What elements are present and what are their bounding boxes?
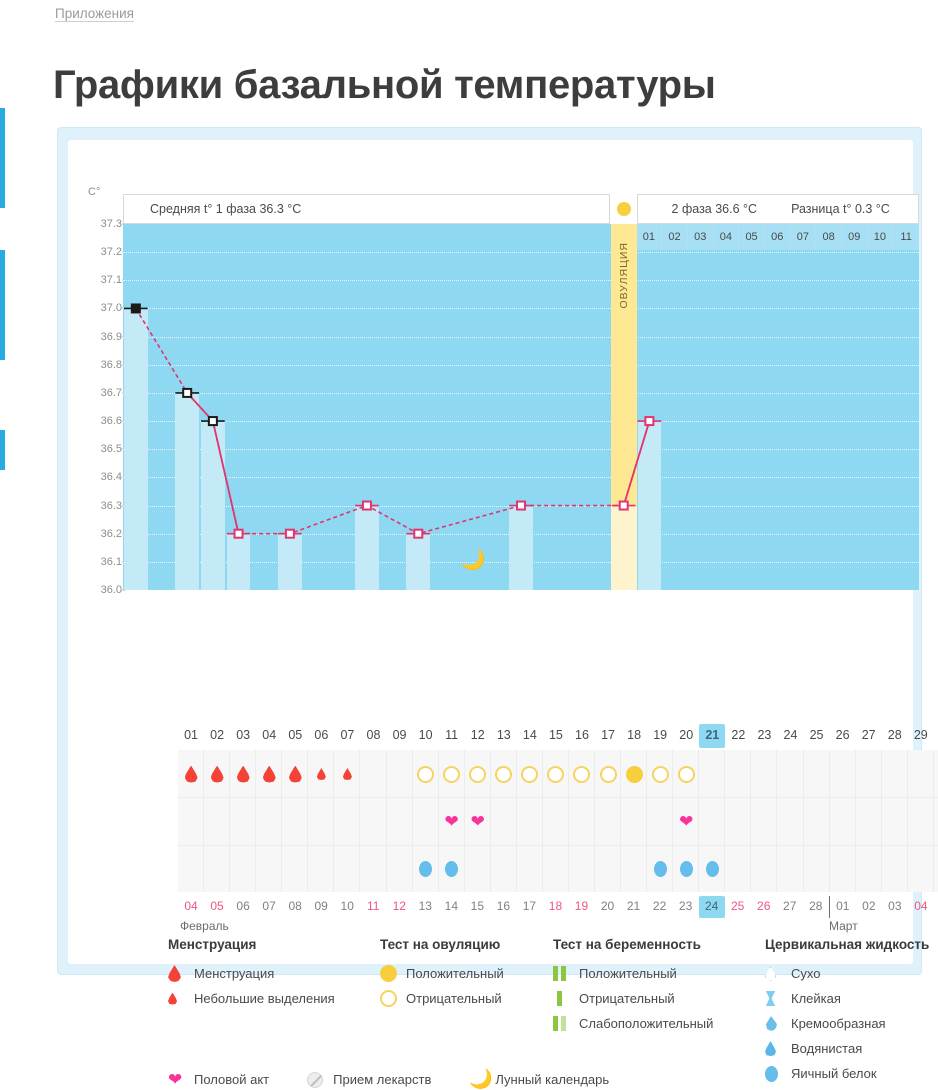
cycle-day-number[interactable]: 15 (543, 724, 569, 748)
circle-filled-yellow-icon (380, 965, 406, 982)
calendar-date-cell[interactable]: 06 (230, 896, 256, 918)
cycle-day-number[interactable]: 26 (830, 724, 856, 748)
symbol-grid-column[interactable] (882, 750, 908, 892)
calendar-date-cell[interactable]: 11 (360, 896, 386, 918)
legend-item-pregnancy-positive: Положительный (553, 961, 713, 986)
phase1-average-header: Средняя t° 1 фаза 36.3 °C (123, 194, 610, 224)
legend-item-ovulation-positive: Положительный (380, 961, 504, 986)
cycle-day-number[interactable]: 05 (282, 724, 308, 748)
symbol-cervical-fluid[interactable] (699, 846, 725, 892)
symbol-ovulation-test-negative[interactable] (439, 751, 465, 797)
y-axis-tick-label: 36.3 (86, 500, 122, 512)
symbol-ovulation-test-negative[interactable] (491, 751, 517, 797)
symbol-cervical-fluid[interactable] (413, 846, 439, 892)
cycle-day-number[interactable]: 04 (256, 724, 282, 748)
symbol-ovulation-test-negative[interactable] (465, 751, 491, 797)
y-axis-tick-label: 36.6 (86, 415, 122, 427)
circle-outline-yellow-icon (652, 766, 669, 783)
oval-filled-icon (765, 1066, 791, 1082)
symbol-ovulation-test-negative[interactable] (673, 751, 699, 797)
legend-item-medication: Прием лекарств (307, 1072, 431, 1088)
symbol-grid-column[interactable] (856, 750, 882, 892)
symbol-grid-column[interactable] (804, 750, 830, 892)
phase-difference-label: Разница t° 0.3 °C (757, 202, 890, 216)
chart-card: C° 37.337.237.137.036.936.836.736.636.53… (57, 127, 922, 975)
calendar-date-cell[interactable]: 03 (882, 896, 908, 918)
calendar-date-cell[interactable]: 21 (621, 896, 647, 918)
legend-label-ovulation-positive: Положительный (406, 966, 504, 981)
calendar-date-cell[interactable]: 26 (751, 896, 777, 918)
oval-filled-icon (419, 861, 432, 877)
symbol-cervical-fluid[interactable] (439, 846, 465, 892)
legend-group-pregnancy-test: Тест на беременность Положительный Отриц… (553, 937, 713, 1036)
calendar-date-cell[interactable]: 20 (595, 896, 621, 918)
y-axis-tick-label: 36.7 (86, 387, 122, 399)
calendar-date-cell[interactable]: 02 (856, 896, 882, 918)
symbol-grid-column[interactable] (777, 750, 803, 892)
blood-drop-small-icon (168, 993, 194, 1005)
symbol-cervical-fluid[interactable] (647, 846, 673, 892)
legend-label-pregnancy-weak-positive: Слабоположительный (579, 1016, 713, 1031)
symbol-ovulation-test-negative[interactable] (517, 751, 543, 797)
temperature-data-point[interactable] (645, 417, 653, 425)
symbol-tracking-grid[interactable]: ❤❤❤ (178, 750, 938, 892)
calendar-date-cell[interactable]: 22 (647, 896, 673, 918)
blood-drop-small-icon (317, 768, 326, 780)
cycle-day-number[interactable]: 16 (569, 724, 595, 748)
legend-label-fluid-sticky: Клейкая (791, 991, 841, 1006)
circle-outline-yellow-icon (600, 766, 617, 783)
phase2-average-header: 2 фаза 36.6 °C Разница t° 0.3 °C (637, 194, 919, 224)
cycle-day-number[interactable]: 07 (334, 724, 360, 748)
blood-drop-large-icon (211, 766, 224, 783)
calendar-date-cell[interactable]: 04 (908, 896, 934, 918)
phase1-average-label: Средняя t° 1 фаза 36.3 °C (124, 202, 301, 216)
half-drop-icon (765, 1016, 791, 1031)
symbol-grid-column[interactable] (360, 750, 386, 892)
circle-outline-yellow-icon (443, 766, 460, 783)
y-axis-tick-label: 37.1 (86, 274, 122, 286)
legend-item-fluid-sticky: Клейкая (765, 986, 929, 1011)
temperature-data-point[interactable] (286, 530, 294, 538)
legend-label-menstruation-heavy: Менструация (194, 966, 274, 981)
cycle-day-number[interactable]: 08 (360, 724, 386, 748)
blood-drop-small-icon (343, 768, 352, 780)
calendar-date-cell[interactable]: 04 (178, 896, 204, 918)
calendar-date-cell[interactable]: 01 (829, 896, 856, 918)
symbol-intercourse[interactable]: ❤ (439, 798, 465, 845)
cycle-day-number[interactable]: 21 (699, 724, 725, 748)
left-edge-accent-strip-3 (0, 430, 5, 470)
legend-label-ovulation-negative: Отрицательный (406, 991, 502, 1006)
temperature-data-point[interactable] (209, 417, 217, 425)
circle-filled-yellow-icon (626, 766, 643, 783)
calendar-date-cell[interactable]: 13 (412, 896, 438, 918)
calendar-date-cell[interactable]: 23 (673, 896, 699, 918)
oval-filled-icon (680, 861, 693, 877)
legend-item-menstruation-heavy: Менструация (168, 961, 335, 986)
legend-item-fluid-watery: Водянистая (765, 1036, 929, 1061)
symbol-grid-column[interactable] (387, 750, 413, 892)
symbol-grid-row-separator (178, 845, 938, 846)
drop-filled-icon (765, 1041, 791, 1056)
cycle-day-number-row[interactable]: 0102030405060708091011121314151617181920… (178, 724, 938, 748)
y-axis-tick-label: 36.4 (86, 471, 122, 483)
symbol-ovulation-test-negative[interactable] (569, 751, 595, 797)
cycle-day-number[interactable]: 13 (491, 724, 517, 748)
pill-icon (307, 1072, 333, 1088)
symbol-intercourse[interactable]: ❤ (673, 798, 699, 845)
legend-item-menstruation-light: Небольшие выделения (168, 986, 335, 1011)
legend-group-cervical-fluid: Цервикальная жидкость Сухо Клейкая Кремо… (765, 937, 929, 1086)
legend-group-menstruation: Менструация Менструация Небольшие выделе… (168, 937, 335, 1011)
calendar-date-cell[interactable]: 28 (803, 896, 829, 918)
cycle-day-number[interactable]: 10 (413, 724, 439, 748)
y-axis-tick-label: 36.2 (86, 528, 122, 540)
symbol-ovulation-test-negative[interactable] (595, 751, 621, 797)
cycle-day-number[interactable]: 23 (751, 724, 777, 748)
cycle-day-number[interactable]: 29 (908, 724, 934, 748)
breadcrumb-link-applications[interactable]: Приложения (55, 6, 134, 21)
ovulation-positive-marker-icon (617, 202, 631, 216)
oval-filled-icon (706, 861, 719, 877)
y-axis-tick-label: 37.2 (86, 246, 122, 258)
symbol-ovulation-test-negative[interactable] (543, 751, 569, 797)
legend-bottom-row: ❤ Половой акт Прием лекарств 🌙 Лунный ка… (168, 1070, 647, 1089)
heart-icon: ❤ (471, 813, 485, 830)
symbol-ovulation-test-negative[interactable] (647, 751, 673, 797)
symbol-grid-column[interactable] (934, 750, 938, 892)
legend-item-lunar-calendar: 🌙 Лунный календарь (469, 1070, 609, 1089)
calendar-date-row[interactable]: 0405060708091011121314151617181920212223… (178, 896, 938, 918)
cycle-day-number[interactable]: 25 (804, 724, 830, 748)
oval-filled-icon (445, 861, 458, 877)
y-axis-tick-label: 36.8 (86, 359, 122, 371)
calendar-date-cell[interactable]: 16 (490, 896, 516, 918)
cycle-day-number[interactable]: 28 (882, 724, 908, 748)
calendar-date-cell[interactable]: 12 (386, 896, 412, 918)
legend-label-fluid-creamy: Кремообразная (791, 1016, 886, 1031)
month-label-left: Февраль (180, 919, 229, 933)
y-axis-tick-label: 36.0 (86, 584, 122, 596)
y-axis-tick-label: 36.1 (86, 556, 122, 568)
calendar-date-cell[interactable]: 27 (777, 896, 803, 918)
temperature-data-point[interactable] (414, 530, 422, 538)
legend-label-medication: Прием лекарств (333, 1072, 431, 1087)
legend-title-ovulation-test: Тест на овуляцию (380, 937, 504, 952)
cycle-day-number[interactable]: 24 (777, 724, 803, 748)
symbol-cervical-fluid[interactable] (673, 846, 699, 892)
temperature-data-point[interactable] (363, 502, 371, 510)
legend-item-fluid-eggwhite: Яичный белок (765, 1061, 929, 1086)
cycle-day-number[interactable]: 09 (387, 724, 413, 748)
symbol-menstruation-light[interactable] (334, 751, 360, 797)
legend-label-fluid-dry: Сухо (791, 966, 820, 981)
blood-drop-large-icon (168, 965, 194, 982)
symbol-grid-column[interactable] (830, 750, 856, 892)
symbol-grid-column[interactable] (908, 750, 934, 892)
calendar-date-cell[interactable]: 18 (542, 896, 568, 918)
cycle-day-number[interactable]: 17 (595, 724, 621, 748)
temperature-data-point[interactable] (183, 389, 191, 397)
calendar-date-cell[interactable]: 19 (568, 896, 594, 918)
phase2-average-label: 2 фаза 36.6 °C (638, 202, 758, 216)
symbol-menstruation-light[interactable] (308, 751, 334, 797)
calendar-date-cell[interactable]: 24 (699, 896, 725, 918)
temperature-line-series (123, 224, 919, 590)
symbol-grid-column[interactable] (725, 750, 751, 892)
circle-outline-yellow-icon (469, 766, 486, 783)
y-axis-tick-label: 36.9 (86, 331, 122, 343)
legend-item-ovulation-negative: Отрицательный (380, 986, 504, 1011)
cycle-day-number[interactable]: 14 (517, 724, 543, 748)
symbol-menstruation-heavy[interactable] (282, 751, 308, 797)
page-title: Графики базальной температуры (53, 63, 716, 108)
y-axis-labels: 37.337.237.137.036.936.836.736.636.536.4… (82, 194, 122, 590)
blood-drop-large-icon (185, 766, 198, 783)
cycle-day-number[interactable]: 18 (621, 724, 647, 748)
symbol-menstruation-heavy[interactable] (204, 751, 230, 797)
circle-outline-yellow-icon (573, 766, 590, 783)
two-green-bars-icon (553, 966, 579, 981)
legend-label-intercourse: Половой акт (194, 1072, 269, 1087)
cycle-day-number[interactable]: 22 (725, 724, 751, 748)
drop-outline-icon (765, 967, 791, 981)
left-edge-accent-strip-2 (0, 250, 5, 360)
legend-label-fluid-watery: Водянистая (791, 1041, 862, 1056)
month-label-right: Март (829, 919, 858, 933)
circle-outline-yellow-icon (417, 766, 434, 783)
legend-title-menstruation: Менструация (168, 937, 335, 952)
legend-title-cervical-fluid: Цервикальная жидкость (765, 937, 929, 952)
legend-label-pregnancy-positive: Положительный (579, 966, 677, 981)
heart-icon: ❤ (679, 813, 693, 830)
calendar-date-cell[interactable]: 25 (725, 896, 751, 918)
legend-item-fluid-dry: Сухо (765, 961, 929, 986)
circle-outline-yellow-icon (495, 766, 512, 783)
circle-outline-yellow-icon (547, 766, 564, 783)
temperature-data-point[interactable] (620, 502, 628, 510)
calendar-date-cell[interactable]: 09 (308, 896, 334, 918)
calendar-date-cell[interactable]: 05 (934, 896, 938, 918)
cycle-day-number[interactable]: 12 (465, 724, 491, 748)
calendar-date-cell[interactable]: 05 (204, 896, 230, 918)
temperature-data-point[interactable] (517, 502, 525, 510)
blood-drop-large-icon (263, 766, 276, 783)
cycle-day-number[interactable]: 01 (178, 724, 204, 748)
left-edge-accent-strip-1 (0, 108, 5, 208)
heart-icon: ❤ (445, 813, 459, 830)
cycle-day-number[interactable]: 02 (204, 724, 230, 748)
one-green-bar-icon (553, 991, 579, 1006)
cycle-day-number[interactable]: 30 (934, 724, 938, 748)
blood-drop-large-icon (289, 766, 302, 783)
legend-item-pregnancy-weak-positive: Слабоположительный (553, 1011, 713, 1036)
legend-title-pregnancy-test: Тест на беременность (553, 937, 713, 952)
cycle-day-number[interactable]: 06 (308, 724, 334, 748)
symbol-menstruation-heavy[interactable] (256, 751, 282, 797)
moon-icon: 🌙 (469, 1070, 495, 1089)
y-axis-tick-label: 37.3 (86, 218, 122, 230)
legend-group-ovulation-test: Тест на овуляцию Положительный Отрицател… (380, 937, 504, 1011)
temperature-data-point[interactable] (235, 530, 243, 538)
cycle-day-number[interactable]: 19 (647, 724, 673, 748)
calendar-date-cell[interactable]: 07 (256, 896, 282, 918)
symbol-grid-row-separator (178, 797, 938, 798)
circle-outline-yellow-icon (521, 766, 538, 783)
cycle-day-number[interactable]: 27 (856, 724, 882, 748)
hourglass-icon (765, 991, 791, 1006)
symbol-grid-column[interactable] (751, 750, 777, 892)
cycle-day-number[interactable]: 03 (230, 724, 256, 748)
legend-item-intercourse: ❤ Половой акт (168, 1071, 269, 1088)
y-axis-tick-label: 36.5 (86, 443, 122, 455)
y-axis-tick-label: 37.0 (86, 302, 122, 314)
cycle-day-number[interactable]: 11 (439, 724, 465, 748)
green-bar-plus-pale-bar-icon (553, 1016, 579, 1031)
legend-label-menstruation-light: Небольшие выделения (194, 991, 335, 1006)
symbol-menstruation-heavy[interactable] (230, 751, 256, 797)
chart-card-inner: C° 37.337.237.137.036.936.836.736.636.53… (68, 140, 913, 964)
symbol-ovulation-test-negative[interactable] (413, 751, 439, 797)
blood-drop-large-icon (237, 766, 250, 783)
calendar-date-cell[interactable]: 10 (334, 896, 360, 918)
symbol-intercourse[interactable]: ❤ (465, 798, 491, 845)
heart-icon: ❤ (168, 1071, 194, 1088)
symbol-ovulation-test-positive[interactable] (621, 751, 647, 797)
circle-outline-yellow-icon (678, 766, 695, 783)
temperature-data-point[interactable] (132, 304, 140, 312)
calendar-date-cell[interactable]: 15 (464, 896, 490, 918)
legend-label-fluid-eggwhite: Яичный белок (791, 1066, 877, 1081)
legend-item-pregnancy-negative: Отрицательный (553, 986, 713, 1011)
legend-label-pregnancy-negative: Отрицательный (579, 991, 675, 1006)
circle-outline-yellow-icon (380, 990, 406, 1007)
calendar-date-cell[interactable]: 14 (438, 896, 464, 918)
cycle-day-number[interactable]: 20 (673, 724, 699, 748)
calendar-date-cell[interactable]: 17 (516, 896, 542, 918)
symbol-menstruation-heavy[interactable] (178, 751, 204, 797)
legend-item-fluid-creamy: Кремообразная (765, 1011, 929, 1036)
oval-filled-icon (654, 861, 667, 877)
bbt-chart-plot: Средняя t° 1 фаза 36.3 °C 2 фаза 36.6 °C… (123, 194, 919, 590)
calendar-date-cell[interactable]: 08 (282, 896, 308, 918)
legend-label-lunar-calendar: Лунный календарь (495, 1072, 609, 1087)
